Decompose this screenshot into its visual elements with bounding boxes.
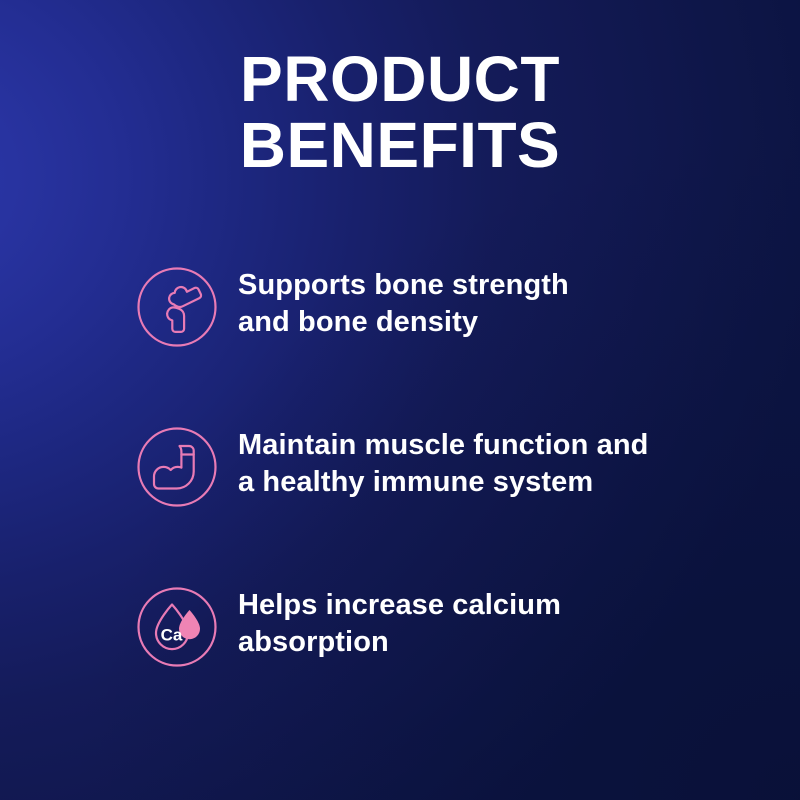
benefit-text-muscle-line-2: a healthy immune system <box>238 464 734 501</box>
page-title: PRODUCT BENEFITS <box>0 46 800 178</box>
flexed-bicep-icon <box>134 424 220 510</box>
calcium-symbol-label: Ca <box>161 626 183 645</box>
benefits-list: Supports bone strength and bone density <box>134 262 734 742</box>
product-benefits-poster: PRODUCT BENEFITS <box>0 0 800 800</box>
bone-joint-icon <box>134 264 220 350</box>
benefit-text-muscle: Maintain muscle function and a healthy i… <box>238 427 734 501</box>
benefit-text-bone: Supports bone strength and bone density <box>238 267 734 341</box>
benefit-text-bone-line-2: and bone density <box>238 304 734 341</box>
benefit-item-calcium: Ca Helps increase calcium absorption <box>134 582 734 742</box>
benefit-text-calcium: Helps increase calcium absorption <box>238 587 734 661</box>
page-title-line-1: PRODUCT <box>0 46 800 112</box>
benefit-item-bone: Supports bone strength and bone density <box>134 262 734 422</box>
benefit-text-muscle-line-1: Maintain muscle function and <box>238 427 734 464</box>
benefit-item-muscle: Maintain muscle function and a healthy i… <box>134 422 734 582</box>
benefit-text-calcium-line-1: Helps increase calcium <box>238 587 734 624</box>
calcium-droplet-icon: Ca <box>134 584 220 670</box>
page-title-line-2: BENEFITS <box>0 112 800 178</box>
benefit-text-bone-line-1: Supports bone strength <box>238 267 734 304</box>
benefit-text-calcium-line-2: absorption <box>238 624 734 661</box>
